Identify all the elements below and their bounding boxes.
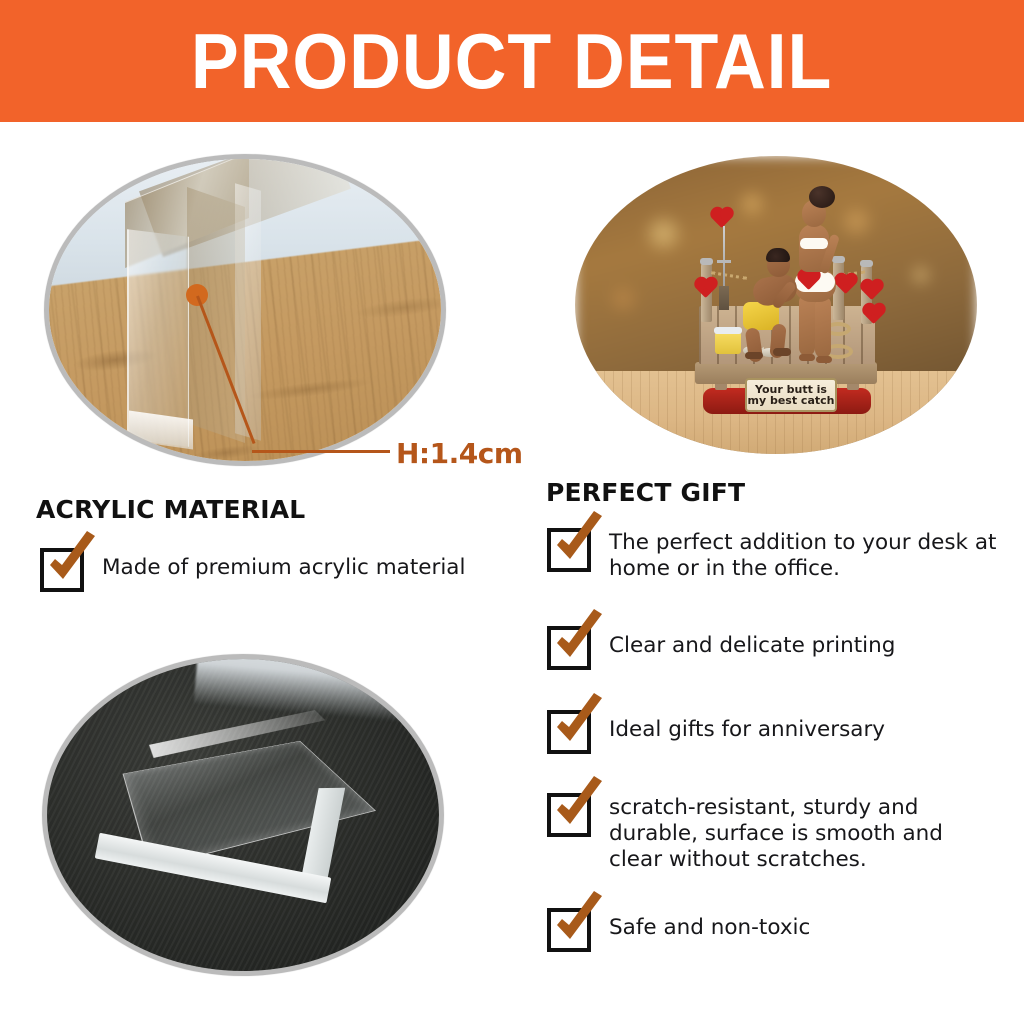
dimension-label: H:1.4cm <box>396 437 523 470</box>
page-title: PRODUCT DETAIL <box>191 22 832 100</box>
feature-label: Safe and non-toxic <box>609 908 810 941</box>
man-hair <box>766 248 790 262</box>
section-heading-perfect-gift: PERFECT GIFT <box>546 478 745 507</box>
checkmark-icon <box>550 895 606 953</box>
woman-hair-bun <box>809 186 835 208</box>
post-cap-left <box>700 258 713 265</box>
feature-label: The perfect addition to your desk at hom… <box>609 528 997 582</box>
feature-label: Clear and delicate printing <box>609 626 895 659</box>
woman-foot-right <box>816 356 832 363</box>
feature-item-gift-1: The perfect addition to your desk at hom… <box>547 528 997 582</box>
woman-bikini-top <box>800 238 828 249</box>
checkbox-icon[interactable] <box>40 548 84 592</box>
checkmark-icon <box>550 613 606 671</box>
post-cap-right-inner <box>832 256 845 263</box>
checkmark-icon <box>550 697 606 755</box>
checkbox-icon[interactable] <box>547 626 591 670</box>
feature-label: Ideal gifts for anniversary <box>609 710 885 743</box>
cooler-box <box>715 332 741 354</box>
feature-label: scratch-resistant, sturdy and durable, s… <box>609 793 999 874</box>
checkmark-icon <box>43 535 99 593</box>
checkbox-icon[interactable] <box>547 908 591 952</box>
checkbox-icon[interactable] <box>547 710 591 754</box>
acrylic-block-photo <box>42 654 444 976</box>
section-heading-acrylic-material: ACRYLIC MATERIAL <box>36 495 305 524</box>
feature-item-acrylic-1: Made of premium acrylic material <box>40 548 520 592</box>
product-figurine-photo: Your butt is my best catch <box>575 156 977 454</box>
feature-item-gift-4: scratch-resistant, sturdy and durable, s… <box>547 793 999 874</box>
woman-foot-left <box>799 354 815 361</box>
feature-label: Made of premium acrylic material <box>102 548 465 581</box>
product-detail-page: PRODUCT DETAIL H:1.4cm <box>0 0 1024 1024</box>
feature-item-gift-3: Ideal gifts for anniversary <box>547 710 997 754</box>
header-banner: PRODUCT DETAIL <box>0 0 1024 122</box>
post-cap-right-outer <box>860 260 873 267</box>
plaque: Your butt is my best catch <box>745 378 837 412</box>
checkmark-icon <box>550 780 606 838</box>
feature-item-gift-2: Clear and delicate printing <box>547 626 997 670</box>
woman-leg-left <box>799 294 815 356</box>
checkbox-icon[interactable] <box>547 793 591 837</box>
man-foot-right <box>773 348 791 356</box>
acrylic-side-face <box>187 187 245 443</box>
feature-item-gift-5: Safe and non-toxic <box>547 908 997 952</box>
man-foot-left <box>745 352 763 359</box>
woman-leg-right <box>815 296 831 358</box>
checkmark-icon <box>550 515 606 573</box>
rod-reel <box>717 260 731 263</box>
checkbox-icon[interactable] <box>547 528 591 572</box>
rod-handle <box>719 286 729 310</box>
leader-line-horizontal <box>252 450 390 453</box>
plaque-line-2: my best catch <box>748 395 835 406</box>
cooler-lid <box>714 327 742 334</box>
